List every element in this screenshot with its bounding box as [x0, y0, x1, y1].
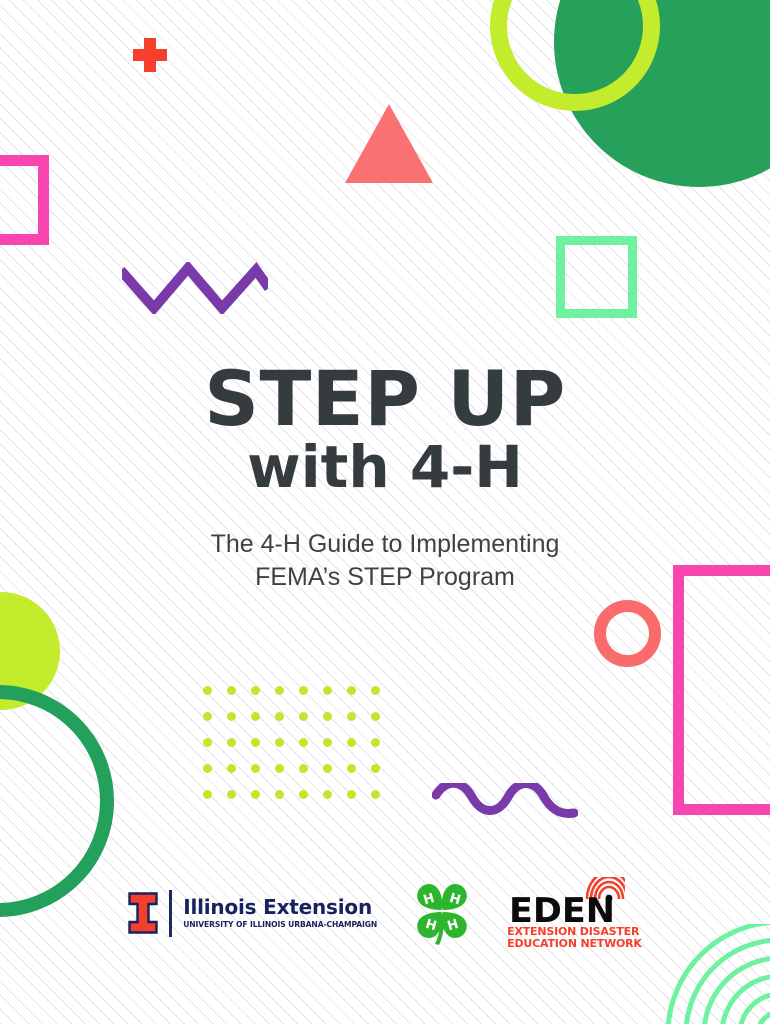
page-subtitle-line2: FEMA’s STEP Program	[255, 563, 515, 591]
page-title-line1: STEP UP	[0, 362, 770, 436]
page-subtitle-line1: The 4-H Guide to Implementing	[211, 530, 560, 558]
document-cover: STEP UP with 4-H The 4-H Guide to Implem…	[0, 0, 770, 1024]
purple-wave-decoration	[432, 783, 578, 823]
dot-grid-decoration	[203, 686, 395, 816]
eden-wordmark-icon: EDEN	[507, 877, 625, 925]
page-title-line2: with 4-H	[0, 436, 770, 499]
illinois-logo-divider	[169, 890, 172, 937]
title-block: STEP UP with 4-H The 4-H Guide to Implem…	[0, 362, 770, 594]
coral-triangle-decoration	[345, 104, 433, 183]
illinois-extension-name: Illinois Extension	[183, 897, 377, 917]
page-subtitle: The 4-H Guide to Implementing FEMA’s STE…	[0, 528, 770, 594]
eden-tagline-line1: EXTENSION DISASTER	[507, 926, 642, 938]
illinois-extension-logo: Illinois Extension UNIVERSITY OF ILLINOI…	[128, 890, 377, 937]
logo-row: Illinois Extension UNIVERSITY OF ILLINOI…	[0, 872, 770, 954]
purple-zigzag-decoration	[122, 262, 268, 314]
eden-logo: EDEN EXTENSION DISASTER EDUCATION NETWOR…	[507, 877, 642, 950]
illinois-block-i-icon	[128, 892, 158, 934]
mint-square-decoration	[556, 236, 637, 318]
eden-tagline-line2: EDUCATION NETWORK	[507, 938, 642, 950]
eden-tagline: EXTENSION DISASTER EDUCATION NETWORK	[507, 926, 642, 950]
pink-square-bottom-right-decoration	[673, 565, 770, 815]
illinois-extension-tagline: UNIVERSITY OF ILLINOIS URBANA-CHAMPAIGN	[183, 921, 377, 929]
coral-ring-decoration	[594, 600, 661, 667]
four-h-clover-icon: H H H H	[413, 880, 471, 946]
svg-text:EDEN: EDEN	[509, 891, 615, 925]
plus-shape-decoration	[133, 38, 167, 72]
illinois-logo-text: Illinois Extension UNIVERSITY OF ILLINOI…	[183, 897, 377, 929]
pink-square-top-left-decoration	[0, 155, 49, 245]
